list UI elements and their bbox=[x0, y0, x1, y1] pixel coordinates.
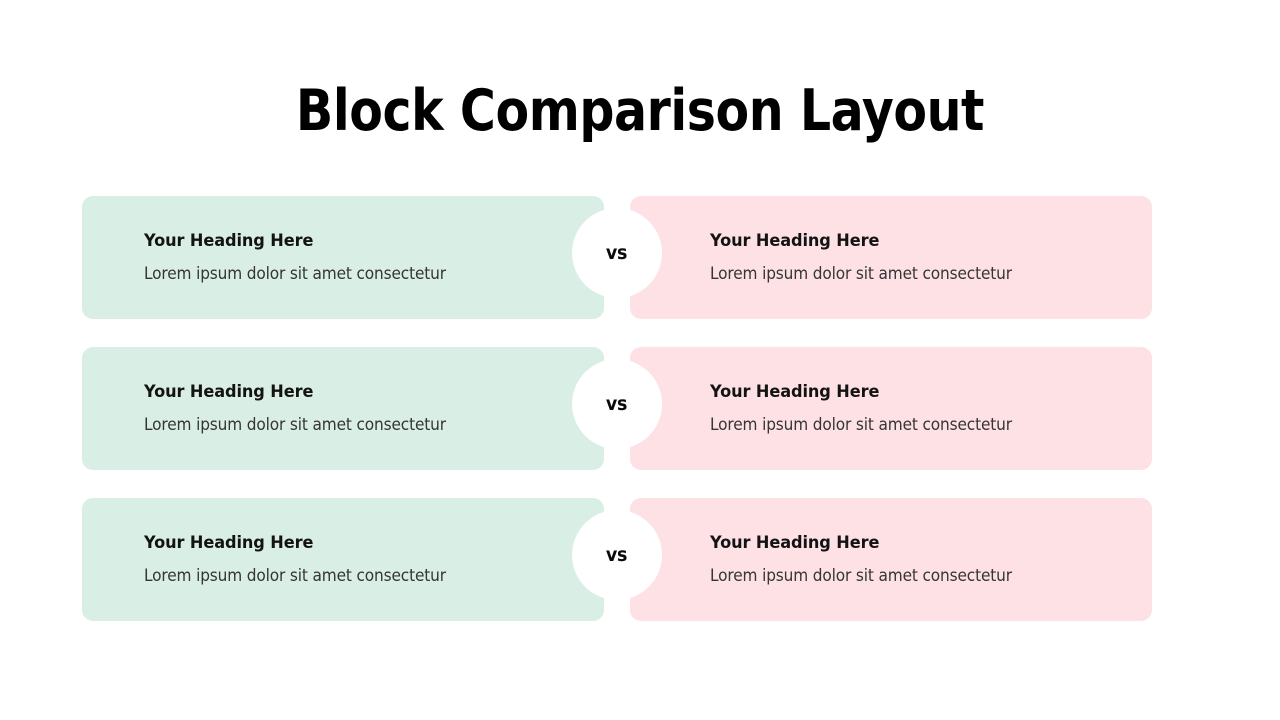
comparison-block-right[interactable]: Your Heading Here Lorem ipsum dolor sit … bbox=[630, 498, 1152, 621]
block-body-text: Lorem ipsum dolor sit amet consectetur bbox=[710, 415, 1099, 435]
block-body-text: Lorem ipsum dolor sit amet consectetur bbox=[144, 415, 549, 435]
block-body-text: Lorem ipsum dolor sit amet consectetur bbox=[710, 566, 1099, 586]
comparison-row: Your Heading Here Lorem ipsum dolor sit … bbox=[0, 347, 1280, 470]
block-heading: Your Heading Here bbox=[144, 533, 558, 553]
comparison-row: Your Heading Here Lorem ipsum dolor sit … bbox=[0, 498, 1280, 621]
slide-canvas: Block Comparison Layout Your Heading Her… bbox=[0, 0, 1280, 720]
block-heading: Your Heading Here bbox=[710, 231, 1107, 251]
comparison-block-left[interactable]: Your Heading Here Lorem ipsum dolor sit … bbox=[82, 498, 604, 621]
page-title: Block Comparison Layout bbox=[90, 82, 1191, 142]
block-heading: Your Heading Here bbox=[710, 382, 1107, 402]
comparison-rows: Your Heading Here Lorem ipsum dolor sit … bbox=[0, 196, 1280, 621]
comparison-block-left[interactable]: Your Heading Here Lorem ipsum dolor sit … bbox=[82, 347, 604, 470]
block-heading: Your Heading Here bbox=[144, 382, 558, 402]
block-body-text: Lorem ipsum dolor sit amet consectetur bbox=[144, 264, 549, 284]
block-heading: Your Heading Here bbox=[710, 533, 1107, 553]
comparison-block-right[interactable]: Your Heading Here Lorem ipsum dolor sit … bbox=[630, 196, 1152, 319]
comparison-block-left[interactable]: Your Heading Here Lorem ipsum dolor sit … bbox=[82, 196, 604, 319]
block-heading: Your Heading Here bbox=[144, 231, 558, 251]
vs-badge: vs bbox=[572, 510, 662, 600]
comparison-row: Your Heading Here Lorem ipsum dolor sit … bbox=[0, 196, 1280, 319]
vs-badge-label: vs bbox=[606, 393, 627, 415]
vs-badge: vs bbox=[572, 208, 662, 298]
vs-badge-label: vs bbox=[606, 544, 627, 566]
block-body-text: Lorem ipsum dolor sit amet consectetur bbox=[144, 566, 549, 586]
block-body-text: Lorem ipsum dolor sit amet consectetur bbox=[710, 264, 1099, 284]
comparison-block-right[interactable]: Your Heading Here Lorem ipsum dolor sit … bbox=[630, 347, 1152, 470]
vs-badge: vs bbox=[572, 359, 662, 449]
vs-badge-label: vs bbox=[606, 242, 627, 264]
